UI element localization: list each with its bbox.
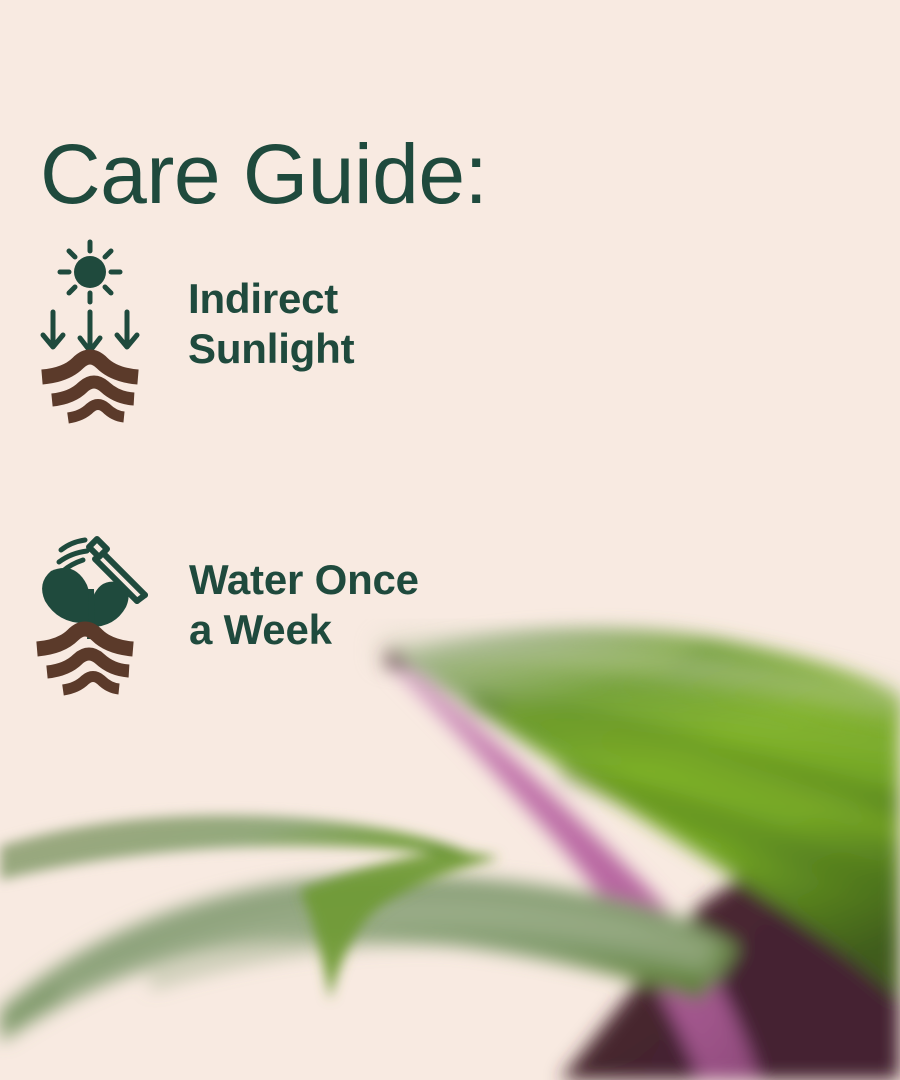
down-arrow-icon: [80, 312, 100, 351]
care-item-label: Indirect Sunlight: [188, 274, 354, 373]
soil-waves-icon: [42, 357, 138, 418]
sun-icon: [60, 242, 120, 302]
down-arrow-icon: [117, 312, 137, 347]
soil-waves-icon: [37, 629, 133, 690]
seedling-leaf-icon: [42, 568, 91, 623]
indirect-sunlight-icon: [38, 238, 142, 410]
spray-lines-icon: [59, 540, 87, 571]
water-once-a-week-icon: [33, 527, 137, 683]
care-item-indirect-sunlight: Indirect Sunlight: [38, 238, 354, 410]
seedling-leaf-icon: [90, 582, 129, 627]
care-guide-page: Care Guide:: [0, 0, 900, 1080]
down-arrow-icon: [43, 312, 63, 347]
care-item-water-once-a-week: Water Once a Week: [33, 527, 419, 683]
page-title: Care Guide:: [40, 132, 487, 216]
care-item-label: Water Once a Week: [189, 555, 419, 654]
